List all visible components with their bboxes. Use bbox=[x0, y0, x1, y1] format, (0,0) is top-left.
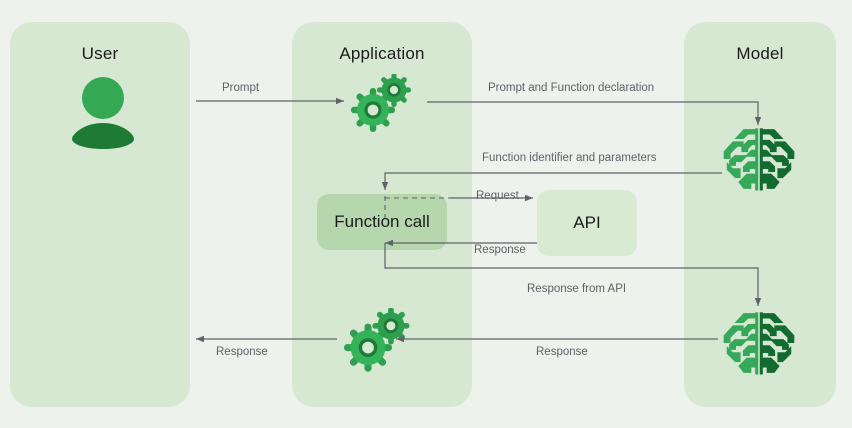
lane-model-title: Model bbox=[684, 44, 836, 64]
brain-icon bbox=[720, 126, 798, 192]
function-call-label: Function call bbox=[334, 212, 429, 232]
edge-label-request: Request bbox=[476, 190, 519, 202]
user-avatar-icon bbox=[72, 77, 134, 149]
edge-label-response-model-to-app: Response bbox=[536, 346, 588, 358]
edge-label-response-api: Response bbox=[474, 244, 526, 256]
api-box: API bbox=[537, 190, 637, 256]
function-calling-flow-diagram: User Application Model Function call API bbox=[0, 0, 852, 428]
edge-label-function-identifier-and-parameters: Function identifier and parameters bbox=[482, 152, 657, 164]
function-call-box: Function call bbox=[317, 194, 447, 250]
gears-icon bbox=[344, 308, 416, 372]
edge-label-response-from-api: Response from API bbox=[527, 283, 626, 295]
edge-label-prompt: Prompt bbox=[222, 82, 259, 94]
edge-label-response-app-to-user: Response bbox=[216, 346, 268, 358]
lane-application-title: Application bbox=[292, 44, 472, 64]
brain-icon bbox=[720, 310, 798, 376]
api-label: API bbox=[573, 213, 600, 233]
gears-icon bbox=[351, 74, 417, 132]
edge-label-prompt-and-function-declaration: Prompt and Function declaration bbox=[488, 82, 654, 94]
lane-user-title: User bbox=[10, 44, 190, 64]
